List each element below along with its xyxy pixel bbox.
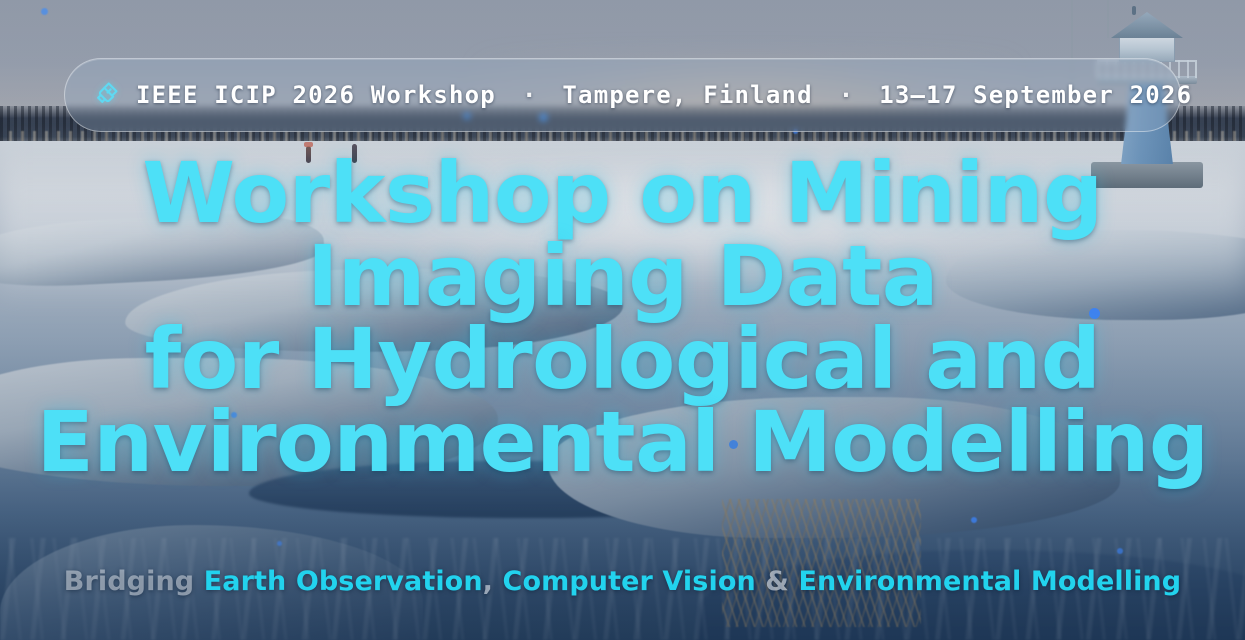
subtitle-lead: Bridging xyxy=(64,566,204,597)
subtitle-topic-environmental-modelling: Environmental Modelling xyxy=(798,566,1181,597)
title-block: Workshop on Mining Imaging Data for Hydr… xyxy=(0,152,1245,485)
title-line-3: for Hydrological and xyxy=(24,318,1221,401)
subtitle: Bridging Earth Observation, Computer Vis… xyxy=(0,566,1245,597)
badge-separator-2: · xyxy=(813,81,879,109)
title-line-1: Workshop on Mining xyxy=(24,152,1221,235)
satellite-icon xyxy=(95,80,120,110)
badge-separator-1: · xyxy=(496,81,562,109)
badge-location-label: Tampere, Finland xyxy=(562,81,812,109)
subtitle-comma: , xyxy=(483,566,503,597)
title-line-4: Environmental Modelling xyxy=(24,401,1221,484)
badge-conference-label: IEEE ICIP 2026 Workshop xyxy=(136,81,496,109)
subtitle-ampersand: & xyxy=(756,566,799,597)
subtitle-topic-computer-vision: Computer Vision xyxy=(503,566,756,597)
subtitle-topic-earth-observation: Earth Observation xyxy=(204,566,483,597)
badge-dates-label: 13–17 September 2026 xyxy=(879,81,1192,109)
title-line-2: Imaging Data xyxy=(24,235,1221,318)
hero-banner: IEEE ICIP 2026 Workshop · Tampere, Finla… xyxy=(0,0,1245,640)
conference-badge[interactable]: IEEE ICIP 2026 Workshop · Tampere, Finla… xyxy=(64,58,1181,132)
page-title: Workshop on Mining Imaging Data for Hydr… xyxy=(24,152,1221,485)
